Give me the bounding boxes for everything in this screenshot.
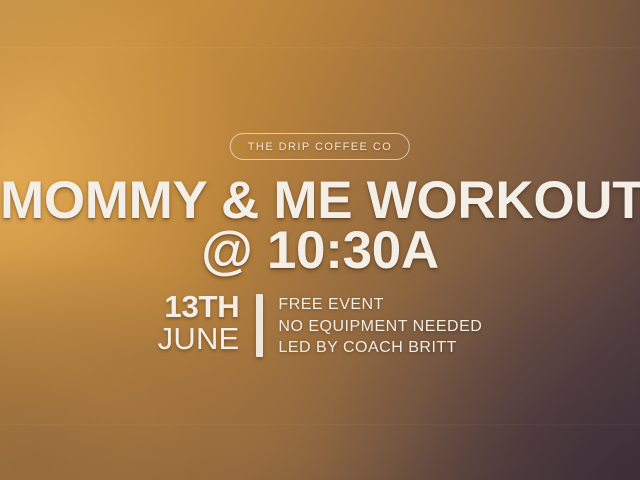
- vertical-divider: [256, 294, 263, 357]
- headline-line-2: @ 10:30A: [0, 226, 640, 276]
- poster-content: THE DRIP COFFEE CO MOMMY & ME WORKOUT @ …: [0, 0, 640, 480]
- event-date-day: 13TH: [158, 291, 240, 322]
- promotional-poster: THE DRIP COFFEE CO MOMMY & ME WORKOUT @ …: [0, 0, 640, 480]
- event-info-list: FREE EVENT NO EQUIPMENT NEEDED LED BY CO…: [278, 290, 482, 359]
- brand-badge: THE DRIP COFFEE CO: [230, 133, 410, 160]
- event-info-item: NO EQUIPMENT NEEDED: [278, 316, 482, 338]
- event-info-item: FREE EVENT: [278, 294, 482, 316]
- brand-badge-label: THE DRIP COFFEE CO: [248, 141, 392, 153]
- event-info-item: LED BY COACH BRITT: [278, 337, 482, 359]
- event-date-month: JUNE: [158, 322, 240, 355]
- event-details-row: 13TH JUNE FREE EVENT NO EQUIPMENT NEEDED…: [0, 290, 640, 359]
- headline: MOMMY & ME WORKOUT @ 10:30A: [0, 176, 640, 276]
- event-date-block: 13TH JUNE: [158, 290, 240, 355]
- headline-line-1: MOMMY & ME WORKOUT: [0, 176, 640, 226]
